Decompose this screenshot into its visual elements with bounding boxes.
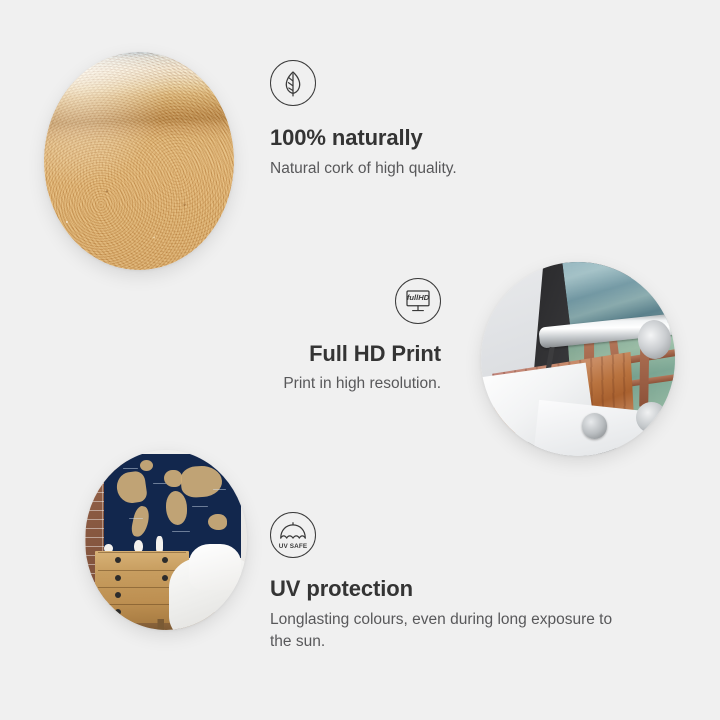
world-map-mural [104,454,240,558]
map-label [153,483,165,484]
map-label [213,489,225,490]
drawer-handle [162,575,168,581]
feature-title: UV protection [270,576,640,602]
feature-description: Print in high resolution. [141,373,441,395]
drawer-handle [115,575,121,581]
feature-icon-wrap: fullHD [141,278,441,324]
printer-knob-secondary [636,402,667,433]
dresser-drawer [98,552,186,565]
feature-natural: 100% naturally Natural cork of high qual… [270,60,570,180]
feature-description: Longlasting colours, even during long ex… [270,609,632,653]
monitor-fullhd-icon: fullHD [395,278,441,324]
feature-showcase: 100% naturally Natural cork of high qual… [0,0,720,720]
printing-press-scene [481,262,675,456]
continent-europe [164,470,182,487]
feature-description: Natural cork of high quality. [270,158,570,180]
map-label [172,531,190,532]
uv-umbrella-icon: UV SAFE [270,512,316,558]
interior-scene [85,450,247,630]
interior-world-map-photo [85,450,247,630]
leaf-icon [270,60,316,106]
fullhd-label: fullHD [396,293,440,302]
uv-safe-label: UV SAFE [271,543,315,550]
printer-knob [582,413,607,438]
continent-greenland [140,460,154,471]
armchair-cushion [189,544,241,591]
printing-press-photo [481,262,675,456]
feature-fullhd: fullHD Full HD Print Print in high resol… [141,278,441,395]
cork-photo-sheen [44,52,234,270]
feature-title: 100% naturally [270,125,570,151]
feature-uv: UV SAFE UV protection Longlasting colour… [270,512,640,653]
map-label [123,468,138,469]
continent-asia [180,465,223,499]
feature-title: Full HD Print [141,341,441,367]
cork-surface-photo [44,52,234,270]
continent-africa [166,491,188,524]
continent-south-america [130,505,151,539]
continent-north-america [115,471,148,506]
continent-australia [208,514,227,530]
map-label [192,506,208,507]
